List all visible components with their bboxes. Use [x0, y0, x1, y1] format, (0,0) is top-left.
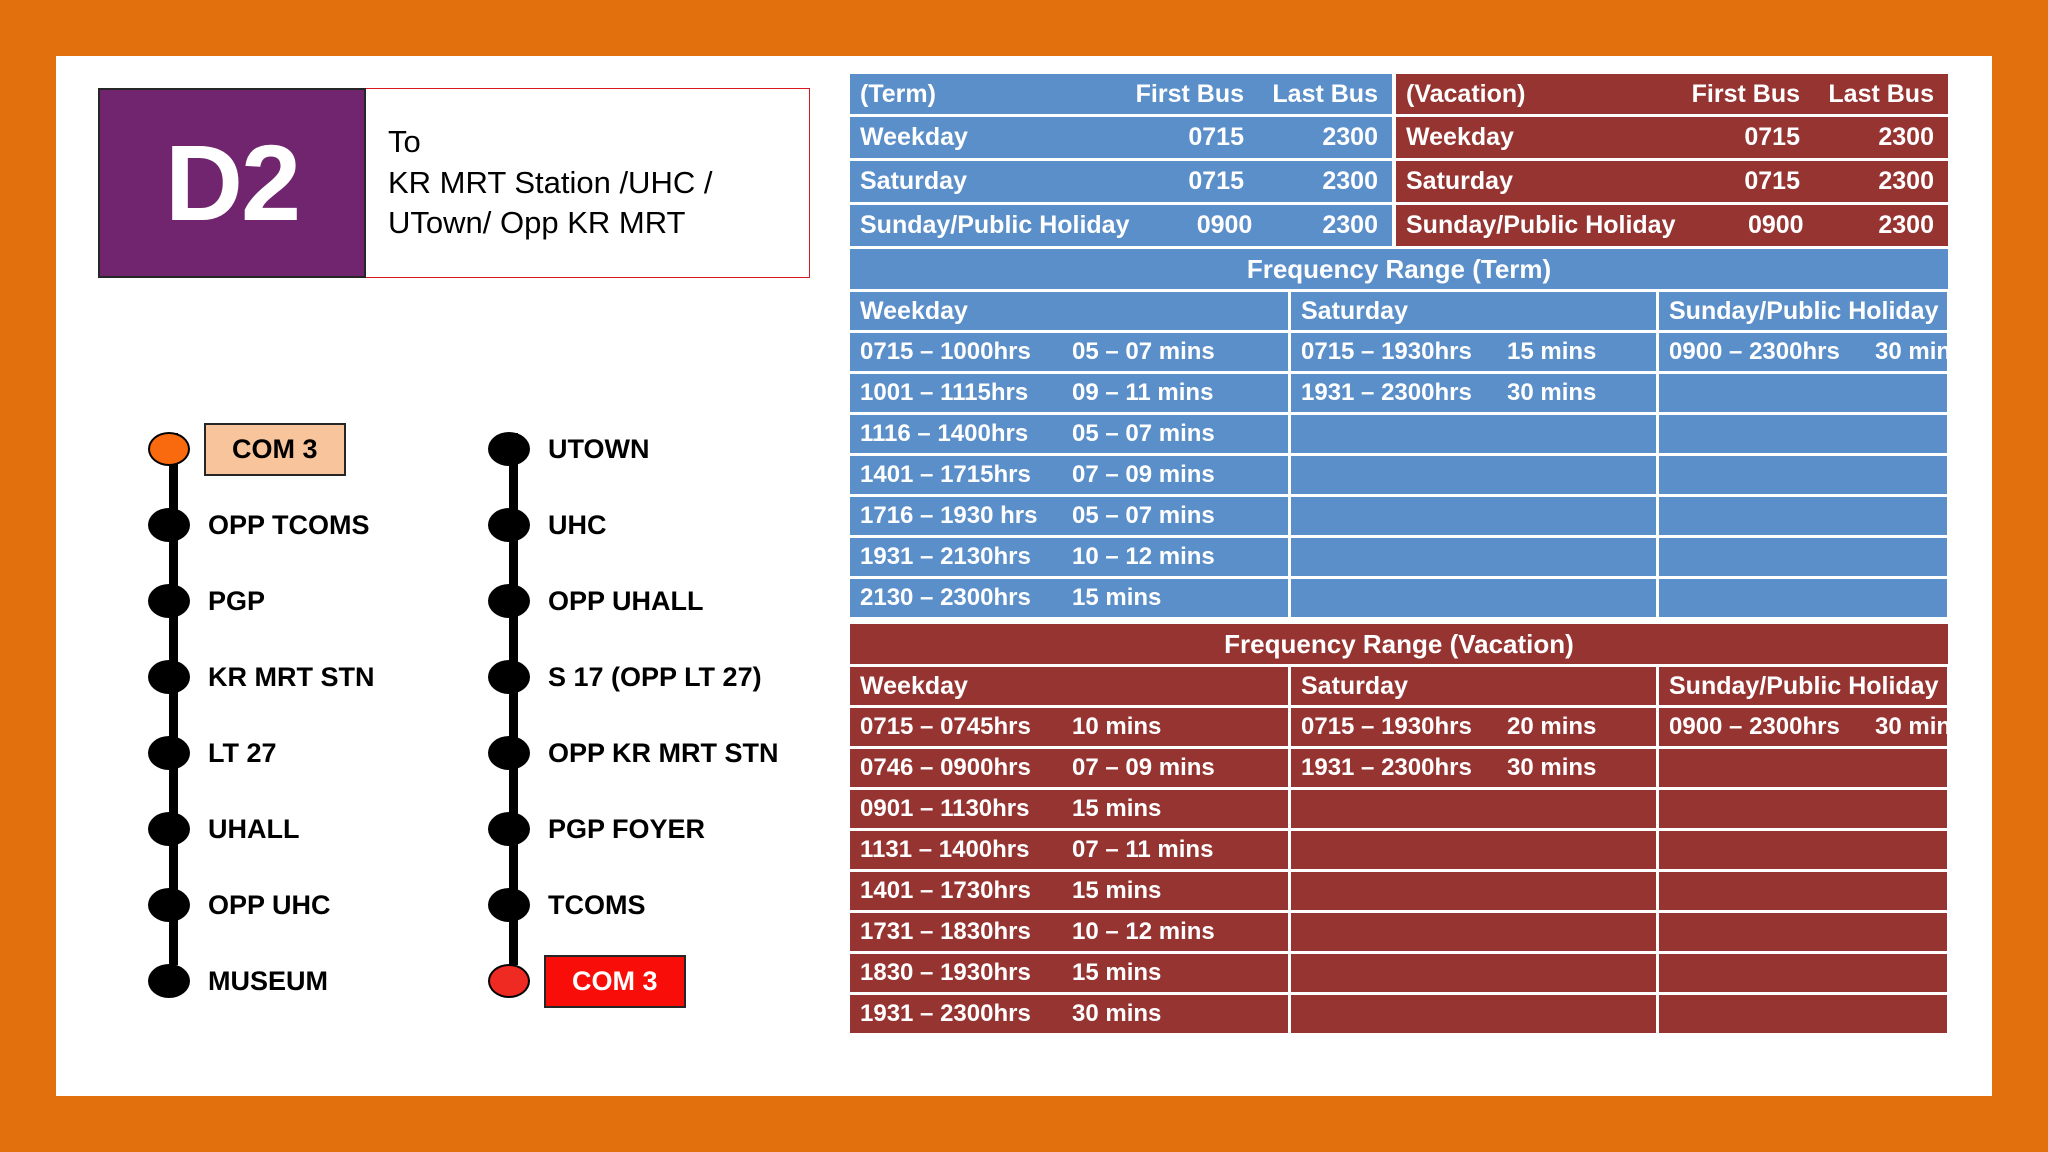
stop-label: S 17 (OPP LT 27)	[548, 662, 762, 693]
frequency-cell: 1931 – 2300hrs30 mins	[1291, 374, 1656, 412]
stop-marker-icon	[148, 508, 190, 542]
last-bus-time: 2300	[1258, 167, 1392, 196]
table-row: Weekday07152300	[1396, 117, 1948, 158]
destination-line-2: UTown/ Opp KR MRT	[388, 203, 809, 244]
stop-label: PGP FOYER	[548, 814, 705, 845]
table-header-row: (Vacation)First BusLast Bus	[1396, 74, 1948, 114]
table-header-row: (Term)First BusLast Bus	[850, 74, 1392, 114]
frequency-cell: 0901 – 1130hrs15 mins	[850, 790, 1288, 828]
interval-value: 10 – 12 mins	[1072, 543, 1215, 571]
stop-item[interactable]: KR MRT STN	[148, 639, 374, 715]
stop-item[interactable]: OPP KR MRT STN	[488, 715, 779, 791]
stop-item[interactable]: OPP UHC	[148, 867, 374, 943]
day-label: Saturday	[850, 167, 1112, 196]
stop-label: OPP UHALL	[548, 586, 704, 617]
frequency-cell	[1291, 995, 1656, 1033]
interval-value: 15 mins	[1072, 795, 1161, 823]
frequency-cell: 0715 – 1930hrs20 mins	[1291, 708, 1656, 746]
frequency-cell: 1931 – 2130hrs10 – 12 mins	[850, 538, 1288, 576]
table-title: (Term)	[850, 80, 1112, 109]
time-range: 1401 – 1730hrs	[860, 877, 1072, 905]
stop-column-outbound: COM 3OPP TCOMSPGPKR MRT STNLT 27UHALLOPP…	[148, 411, 374, 1019]
frequency-cell: 0900 – 2300hrs30 mins	[1659, 708, 1947, 746]
time-range: 0900 – 2300hrs	[1669, 713, 1875, 741]
frequency-cell	[1659, 913, 1947, 951]
frequency-column-header: Sunday/Public Holiday	[1659, 292, 1947, 330]
last-bus-time: 2300	[1814, 167, 1948, 196]
time-range: 1931 – 2300hrs	[1301, 379, 1507, 407]
last-bus-time: 2300	[1814, 123, 1948, 152]
column-header-first-bus: First Bus	[1668, 80, 1814, 109]
day-label: Sunday/Public Holiday	[1396, 211, 1676, 240]
interval-value: 15 mins	[1072, 959, 1161, 987]
frequency-cell: 1931 – 2300hrs30 mins	[850, 995, 1288, 1033]
frequency-term-table: Weekday0715 – 1000hrs05 – 07 mins1001 – …	[850, 292, 1948, 620]
last-bus-time: 2300	[1258, 123, 1392, 152]
interval-value: 30 mins	[1507, 379, 1596, 407]
frequency-cell	[1291, 954, 1656, 992]
frequency-cell	[1659, 456, 1947, 494]
frequency-cell: 1931 – 2300hrs30 mins	[1291, 749, 1656, 787]
interval-value: 20 mins	[1507, 713, 1596, 741]
frequency-cell: 0715 – 0745hrs10 mins	[850, 708, 1288, 746]
time-range: 0900 – 2300hrs	[1669, 338, 1875, 366]
frequency-cell	[1291, 831, 1656, 869]
stop-marker-icon	[148, 660, 190, 694]
stop-marker-icon	[148, 964, 190, 998]
stop-item[interactable]: PGP FOYER	[488, 791, 779, 867]
interval-value: 10 – 12 mins	[1072, 918, 1215, 946]
frequency-column-header: Weekday	[850, 667, 1288, 705]
route-stop-diagram: COM 3OPP TCOMSPGPKR MRT STNLT 27UHALLOPP…	[98, 411, 838, 1061]
stop-item[interactable]: COM 3	[488, 943, 779, 1019]
stop-item[interactable]: UHALL	[148, 791, 374, 867]
frequency-cell	[1659, 579, 1947, 617]
frequency-cell: 1131 – 1400hrs07 – 11 mins	[850, 831, 1288, 869]
time-range: 1731 – 1830hrs	[860, 918, 1072, 946]
stop-item[interactable]: TCOMS	[488, 867, 779, 943]
stop-item[interactable]: LT 27	[148, 715, 374, 791]
stop-label: COM 3	[544, 955, 686, 1008]
first-bus-time: 0900	[1676, 211, 1818, 240]
interval-value: 15 mins	[1072, 877, 1161, 905]
interval-value: 05 – 07 mins	[1072, 420, 1215, 448]
stop-label: KR MRT STN	[208, 662, 374, 693]
frequency-cell: 1116 – 1400hrs05 – 07 mins	[850, 415, 1288, 453]
stop-label: MUSEUM	[208, 966, 328, 997]
frequency-cell	[1291, 790, 1656, 828]
frequency-column-weekday: Weekday0715 – 1000hrs05 – 07 mins1001 – …	[850, 292, 1288, 620]
start-terminal-marker-icon	[148, 432, 190, 466]
stop-item[interactable]: PGP	[148, 563, 374, 639]
time-range: 0715 – 1930hrs	[1301, 338, 1507, 366]
frequency-cell	[1659, 995, 1947, 1033]
time-range: 0901 – 1130hrs	[860, 795, 1072, 823]
frequency-cell	[1291, 913, 1656, 951]
frequency-column-saturday: Saturday0715 – 1930hrs15 mins1931 – 2300…	[1291, 292, 1656, 620]
stop-marker-icon	[488, 660, 530, 694]
stop-marker-icon	[148, 888, 190, 922]
stop-label: TCOMS	[548, 890, 646, 921]
stop-label: UTOWN	[548, 434, 650, 465]
frequency-cell: 0746 – 0900hrs07 – 09 mins	[850, 749, 1288, 787]
frequency-column-header: Sunday/Public Holiday	[1659, 667, 1947, 705]
frequency-column-sunday: Sunday/Public Holiday0900 – 2300hrs30 mi…	[1659, 292, 1947, 620]
stop-label: OPP UHC	[208, 890, 331, 921]
first-bus-time: 0715	[1668, 123, 1814, 152]
frequency-column-saturday: Saturday0715 – 1930hrs20 mins1931 – 2300…	[1291, 667, 1656, 1036]
stop-marker-icon	[488, 736, 530, 770]
frequency-cell: 1401 – 1715hrs07 – 09 mins	[850, 456, 1288, 494]
time-range: 1001 – 1115hrs	[860, 379, 1072, 407]
frequency-cell: 1731 – 1830hrs10 – 12 mins	[850, 913, 1288, 951]
interval-value: 30 mins	[1507, 754, 1596, 782]
frequency-column-header: Saturday	[1291, 292, 1656, 330]
frequency-cell: 0715 – 1000hrs05 – 07 mins	[850, 333, 1288, 371]
frequency-cell	[1659, 831, 1947, 869]
frequency-cell	[1291, 579, 1656, 617]
first-bus-time: 0715	[1112, 167, 1258, 196]
first-last-bus-term-table: (Term)First BusLast BusWeekday07152300Sa…	[850, 74, 1392, 249]
poster-card: D2 To KR MRT Station /UHC / UTown/ Opp K…	[56, 56, 1992, 1096]
frequency-cell: 0900 – 2300hrs30 mins	[1659, 333, 1947, 371]
stop-marker-icon	[488, 888, 530, 922]
frequency-cell: 1401 – 1730hrs15 mins	[850, 872, 1288, 910]
interval-value: 07 – 09 mins	[1072, 754, 1215, 782]
stop-item[interactable]: OPP UHALL	[488, 563, 779, 639]
frequency-cell	[1659, 497, 1947, 535]
frequency-cell	[1659, 415, 1947, 453]
route-destination-box: To KR MRT Station /UHC / UTown/ Opp KR M…	[366, 88, 810, 278]
interval-value: 15 mins	[1507, 338, 1596, 366]
time-range: 1716 – 1930 hrs	[860, 502, 1072, 530]
table-title: (Vacation)	[1396, 80, 1668, 109]
first-last-bus-tables: (Term)First BusLast BusWeekday07152300Sa…	[850, 74, 1948, 249]
stop-item[interactable]: OPP TCOMS	[148, 487, 374, 563]
stop-item[interactable]: UHC	[488, 487, 779, 563]
stop-marker-icon	[148, 736, 190, 770]
frequency-column-header: Weekday	[850, 292, 1288, 330]
frequency-cell	[1659, 749, 1947, 787]
frequency-cell: 1830 – 1930hrs15 mins	[850, 954, 1288, 992]
time-range: 0715 – 0745hrs	[860, 713, 1072, 741]
frequency-cell	[1291, 415, 1656, 453]
time-range: 1931 – 2130hrs	[860, 543, 1072, 571]
interval-value: 05 – 07 mins	[1072, 338, 1215, 366]
first-bus-time: 0715	[1668, 167, 1814, 196]
interval-value: 07 – 09 mins	[1072, 461, 1215, 489]
stop-label: OPP TCOMS	[208, 510, 370, 541]
frequency-cell: 0715 – 1930hrs15 mins	[1291, 333, 1656, 371]
frequency-cell	[1291, 538, 1656, 576]
stop-marker-icon	[488, 508, 530, 542]
stop-column-return: UTOWNUHCOPP UHALLS 17 (OPP LT 27)OPP KR …	[488, 411, 779, 1019]
stop-item[interactable]: UTOWN	[488, 411, 779, 487]
destination-line-1: KR MRT Station /UHC /	[388, 163, 809, 204]
day-label: Weekday	[1396, 123, 1668, 152]
stop-label: COM 3	[204, 423, 346, 476]
interval-value: 30 mins	[1875, 338, 1947, 366]
frequency-column-sunday: Sunday/Public Holiday0900 – 2300hrs30 mi…	[1659, 667, 1947, 1036]
time-range: 1401 – 1715hrs	[860, 461, 1072, 489]
interval-value: 30 mins	[1875, 713, 1947, 741]
interval-value: 09 – 11 mins	[1072, 379, 1213, 407]
day-label: Weekday	[850, 123, 1112, 152]
frequency-cell: 2130 – 2300hrs15 mins	[850, 579, 1288, 617]
frequency-cell	[1659, 538, 1947, 576]
route-header: D2 To KR MRT Station /UHC / UTown/ Opp K…	[98, 88, 810, 278]
stop-item[interactable]: MUSEUM	[148, 943, 374, 1019]
route-number-badge: D2	[98, 88, 366, 278]
stop-label: OPP KR MRT STN	[548, 738, 779, 769]
interval-value: 07 – 11 mins	[1072, 836, 1213, 864]
time-range: 1131 – 1400hrs	[860, 836, 1072, 864]
stop-label: UHALL	[208, 814, 299, 845]
stop-marker-icon	[148, 584, 190, 618]
frequency-cell: 1001 – 1115hrs09 – 11 mins	[850, 374, 1288, 412]
column-header-last-bus: Last Bus	[1258, 80, 1392, 109]
frequency-cell	[1659, 954, 1947, 992]
stop-marker-icon	[488, 432, 530, 466]
time-range: 0746 – 0900hrs	[860, 754, 1072, 782]
first-bus-time: 0715	[1112, 123, 1258, 152]
end-terminal-marker-icon	[488, 964, 530, 998]
column-header-last-bus: Last Bus	[1814, 80, 1948, 109]
stop-marker-icon	[148, 812, 190, 846]
column-header-first-bus: First Bus	[1112, 80, 1258, 109]
table-row: Saturday07152300	[850, 161, 1392, 202]
first-bus-time: 0900	[1130, 211, 1267, 240]
day-label: Sunday/Public Holiday	[850, 211, 1130, 240]
last-bus-time: 2300	[1818, 211, 1948, 240]
frequency-cell	[1659, 872, 1947, 910]
table-row: Weekday07152300	[850, 117, 1392, 158]
frequency-cell	[1659, 790, 1947, 828]
time-range: 0715 – 1000hrs	[860, 338, 1072, 366]
frequency-cell	[1291, 497, 1656, 535]
frequency-term-banner: Frequency Range (Term)	[850, 249, 1948, 289]
frequency-vacation-banner: Frequency Range (Vacation)	[850, 624, 1948, 664]
stop-marker-icon	[488, 584, 530, 618]
time-range: 1116 – 1400hrs	[860, 420, 1072, 448]
time-range: 1931 – 2300hrs	[1301, 754, 1507, 782]
stop-label: UHC	[548, 510, 607, 541]
route-number-label: D2	[165, 129, 299, 237]
frequency-column-weekday: Weekday0715 – 0745hrs10 mins0746 – 0900h…	[850, 667, 1288, 1036]
stop-item[interactable]: COM 3	[148, 411, 374, 487]
frequency-cell: 1716 – 1930 hrs05 – 07 mins	[850, 497, 1288, 535]
table-row: Saturday07152300	[1396, 161, 1948, 202]
time-range: 1931 – 2300hrs	[860, 1000, 1072, 1028]
last-bus-time: 2300	[1266, 211, 1392, 240]
destination-prefix: To	[388, 122, 809, 163]
day-label: Saturday	[1396, 167, 1668, 196]
interval-value: 05 – 07 mins	[1072, 502, 1215, 530]
stop-label: PGP	[208, 586, 265, 617]
stop-item[interactable]: S 17 (OPP LT 27)	[488, 639, 779, 715]
frequency-cell	[1659, 374, 1947, 412]
time-range: 2130 – 2300hrs	[860, 584, 1072, 612]
table-row: Sunday/Public Holiday09002300	[850, 205, 1392, 246]
stop-label: LT 27	[208, 738, 277, 769]
frequency-cell	[1291, 456, 1656, 494]
interval-value: 10 mins	[1072, 713, 1161, 741]
time-range: 0715 – 1930hrs	[1301, 713, 1507, 741]
interval-value: 30 mins	[1072, 1000, 1161, 1028]
frequency-column-header: Saturday	[1291, 667, 1656, 705]
stop-marker-icon	[488, 812, 530, 846]
interval-value: 15 mins	[1072, 584, 1161, 612]
frequency-vacation-table: Weekday0715 – 0745hrs10 mins0746 – 0900h…	[850, 667, 1948, 1036]
frequency-cell	[1291, 872, 1656, 910]
table-row: Sunday/Public Holiday09002300	[1396, 205, 1948, 246]
time-range: 1830 – 1930hrs	[860, 959, 1072, 987]
first-last-bus-vacation-table: (Vacation)First BusLast BusWeekday071523…	[1396, 74, 1948, 249]
schedule-tables: (Term)First BusLast BusWeekday07152300Sa…	[850, 74, 1948, 1040]
